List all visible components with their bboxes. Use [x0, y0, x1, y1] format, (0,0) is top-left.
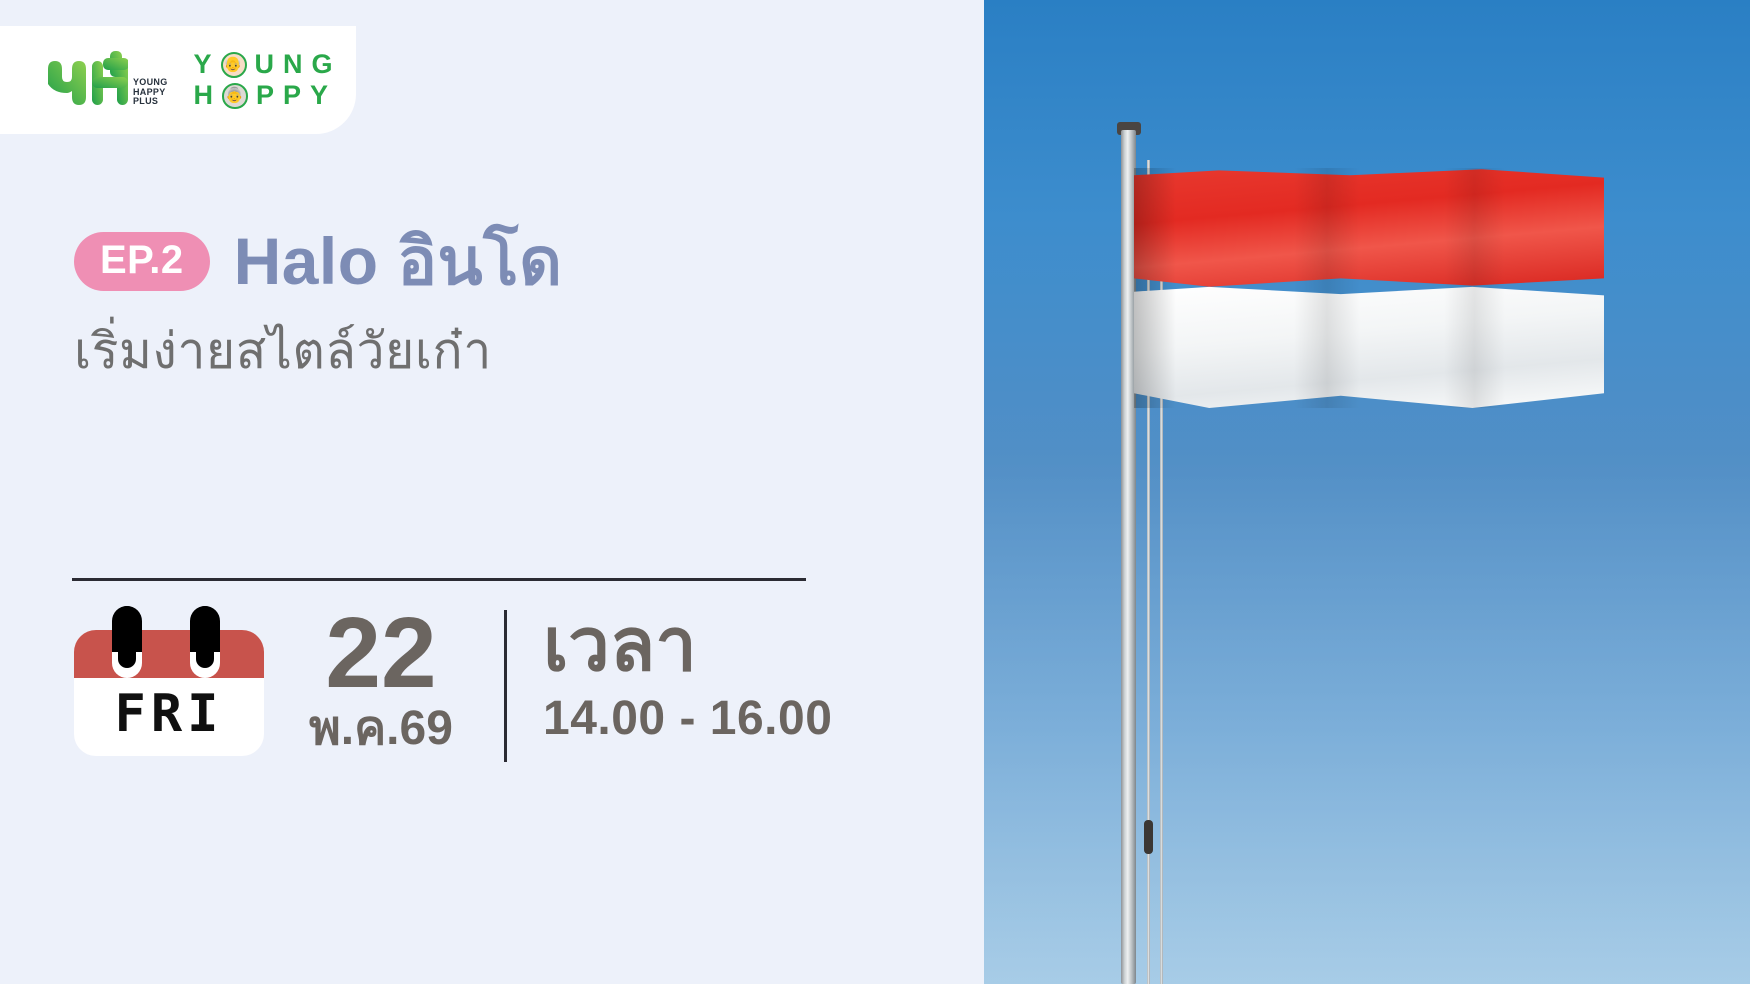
grandma-face-icon: 👵: [222, 83, 248, 109]
horizontal-divider: [72, 578, 806, 581]
flag-fold-shadow: [1294, 168, 1360, 408]
yh-monogram-icon: [44, 51, 128, 109]
logo-card: YOUNG HAPPY PLUS Y 👴 U N G H 👵 P P Y: [0, 26, 356, 134]
episode-badge: EP.2: [74, 232, 210, 291]
young-happy-row-young: Y 👴 U N G: [194, 51, 334, 78]
indonesia-flag-photo: [984, 0, 1750, 984]
calendar-body: FRI: [74, 630, 264, 756]
letter-p-1: P: [256, 82, 275, 109]
time-value: 14.00 - 16.00: [543, 690, 832, 748]
calendar-ring-pin-right: [196, 606, 214, 668]
young-happy-row-happy: H 👵 P P Y: [194, 82, 334, 109]
yh-wordmark: YOUNG HAPPY PLUS: [133, 78, 168, 109]
letter-y-2: Y: [310, 82, 329, 109]
date-day-number: 22: [325, 606, 436, 701]
letter-p-2: P: [283, 82, 302, 109]
page-title: Halo อินโด: [234, 228, 563, 294]
flag-white-band: [1134, 286, 1604, 408]
letter-y: Y: [194, 51, 213, 78]
letter-h: H: [194, 82, 215, 109]
promo-banner: YOUNG HAPPY PLUS Y 👴 U N G H 👵 P P Y: [0, 0, 1750, 984]
page-subtitle: เริ่มง่ายสไตล์วัยเก๋า: [74, 320, 492, 383]
headline-row: EP.2 Halo อินโด: [74, 228, 563, 294]
yh-word-3: PLUS: [133, 97, 168, 107]
flag-red-band: [1134, 168, 1604, 288]
date-month-year: พ.ค.69: [309, 703, 453, 756]
letter-n: N: [283, 51, 304, 78]
young-happy-plus-logo: YOUNG HAPPY PLUS: [44, 51, 168, 109]
schedule-row: FRI 22 พ.ค.69 เวลา 14.00 - 16.00: [74, 606, 832, 762]
calendar-header: [74, 630, 264, 678]
calendar-ring-pin-left: [118, 606, 136, 668]
time-block: เวลา 14.00 - 16.00: [507, 606, 832, 747]
young-happy-logo: Y 👴 U N G H 👵 P P Y: [194, 51, 334, 109]
halyard-knot: [1144, 820, 1153, 854]
grandpa-face-icon: 👴: [221, 52, 247, 78]
date-block: 22 พ.ค.69: [286, 606, 504, 756]
letter-u: U: [255, 51, 276, 78]
calendar-icon: FRI: [74, 606, 264, 756]
indonesian-flag: [1134, 168, 1604, 408]
letter-g: G: [312, 51, 334, 78]
time-label: เวลา: [543, 606, 697, 684]
flag-fold-shadow: [1444, 168, 1505, 408]
flag-hoist-shadow: [1134, 168, 1176, 408]
sky-gradient: [984, 443, 1750, 984]
calendar-weekday: FRI: [74, 684, 264, 744]
